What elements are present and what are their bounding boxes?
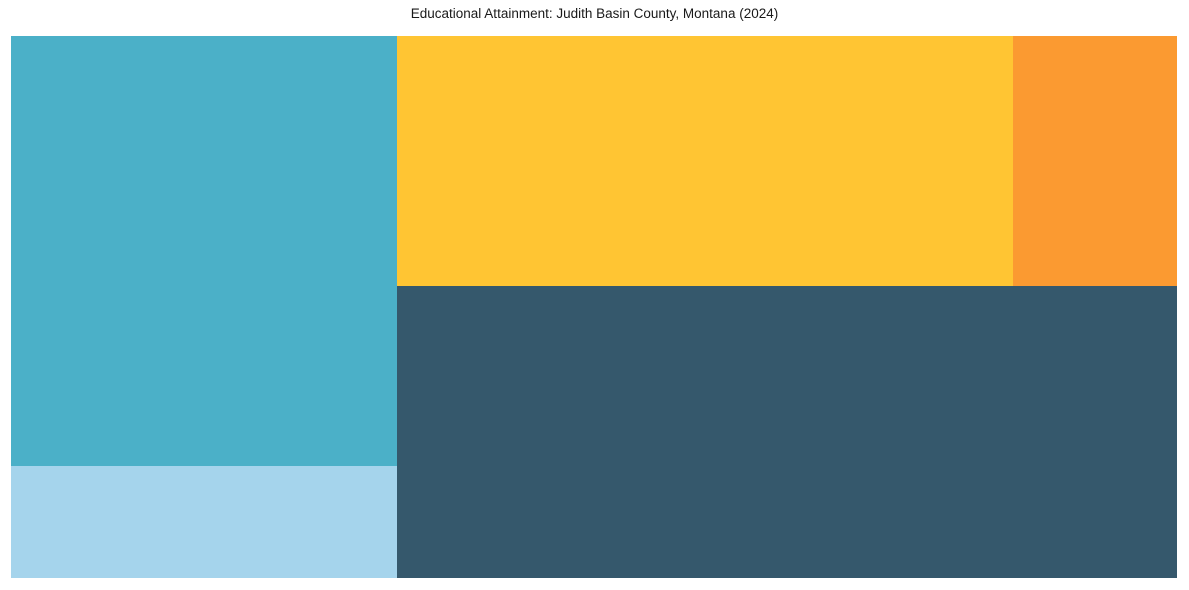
treemap-tile-yellow[interactable]: Bachelor's degree <box>397 36 1013 286</box>
treemap-tile-lightblue[interactable]: Associate's degree <box>11 466 397 578</box>
treemap-tile-teal[interactable]: Some college, no degree <box>11 36 397 466</box>
chart-title: Educational Attainment: Judith Basin Cou… <box>0 5 1189 23</box>
treemap-tile-navy[interactable]: High school graduate (includes equivalen… <box>397 286 1177 578</box>
treemap-tile-orange[interactable]: Graduate or professional degree <box>1013 36 1177 286</box>
treemap-figure: Educational Attainment: Judith Basin Cou… <box>0 0 1189 590</box>
treemap-plot-area: High school graduate (includes equivalen… <box>11 36 1177 578</box>
